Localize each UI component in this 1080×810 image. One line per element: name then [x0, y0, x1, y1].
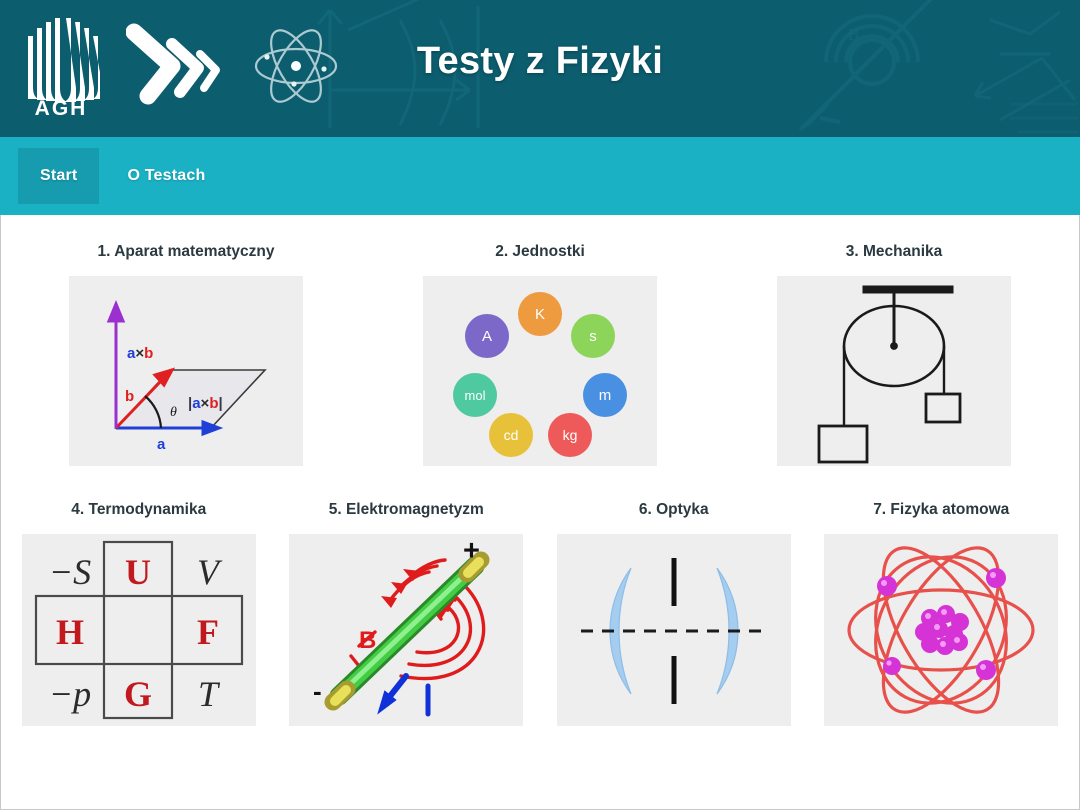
site-header: B [0, 0, 1080, 137]
unit-label-cd: cd [504, 427, 519, 443]
topic-card-title: 3. Mechanika [846, 243, 943, 261]
thermo-minus-p: −p [49, 674, 91, 714]
svg-text:b: b [125, 388, 134, 405]
thermo-f: F [197, 612, 219, 652]
svg-text:a×b: a×b [127, 345, 153, 362]
field-label-b: B [359, 627, 376, 654]
atom-model [824, 534, 1058, 726]
svg-text:θ: θ [170, 405, 177, 420]
terminal-plus: + [463, 535, 480, 567]
topic-card-title: 5. Elektromagnetyzm [329, 501, 484, 519]
row-spacer [1, 466, 1079, 488]
page-title: Testy z Fizyki [0, 40, 1080, 83]
svg-text:AGH: AGH [35, 97, 88, 118]
unit-label-kg: kg [563, 427, 578, 443]
page-root: B [0, 0, 1080, 810]
content-panel: 1. Aparat matematyczny [0, 215, 1080, 810]
thermo-u: U [125, 552, 151, 592]
thermo-h: H [56, 612, 84, 652]
topic-card-title: 6. Optyka [639, 501, 709, 519]
topic-card-mechanika[interactable]: 3. Mechanika [777, 229, 1011, 466]
unit-label-a: A [482, 328, 492, 345]
thermodynamic-square: −S U V H F −p G T [22, 534, 256, 726]
topic-card-title: 2. Jednostki [495, 243, 585, 261]
unit-label-m: m [599, 387, 612, 404]
svg-text:|a×b|: |a×b| [188, 395, 223, 412]
unit-label-k: K [535, 306, 545, 323]
terminal-minus: - [313, 676, 322, 706]
topic-row-1: 1. Aparat matematyczny [1, 229, 1079, 466]
topic-card-elektromagnetyzm[interactable]: 5. Elektromagnetyzm [289, 488, 523, 726]
nav-item-start[interactable]: Start [18, 148, 99, 204]
nav-item-o-testach[interactable]: O Testach [105, 148, 227, 204]
topic-card-title: 4. Termodynamika [71, 501, 206, 519]
topic-card-optyka[interactable]: 6. Optyka [557, 488, 791, 726]
si-units-circles: K A s mol m cd kg [423, 276, 657, 466]
current-carrying-rod: B + - [289, 534, 523, 726]
unit-label-s: s [589, 328, 597, 345]
topic-card-title: 1. Aparat matematyczny [98, 243, 275, 261]
concave-lenses-diagram [557, 534, 791, 726]
vector-cross-product-diagram: a×b b a θ |a×b| [69, 276, 303, 466]
topic-row-2: 4. Termodynamika −S U V H F −p G [1, 488, 1079, 726]
thermo-minus-s: −S [49, 552, 91, 592]
topic-card-aparat-matematyczny[interactable]: 1. Aparat matematyczny [69, 229, 303, 466]
unit-label-mol: mol [465, 388, 486, 403]
topic-card-jednostki[interactable]: 2. Jednostki K A s mol m [423, 229, 657, 466]
main-navigation: Start O Testach [0, 137, 1080, 215]
topic-card-termodynamika[interactable]: 4. Termodynamika −S U V H F −p G [22, 488, 256, 726]
thermo-t: T [198, 674, 221, 714]
topic-card-title: 7. Fizyka atomowa [873, 501, 1009, 519]
thermo-g: G [124, 674, 152, 714]
pulley-system-diagram [777, 276, 1011, 466]
topic-card-fizyka-atomowa[interactable]: 7. Fizyka atomowa [824, 488, 1058, 726]
svg-text:a: a [157, 436, 166, 453]
